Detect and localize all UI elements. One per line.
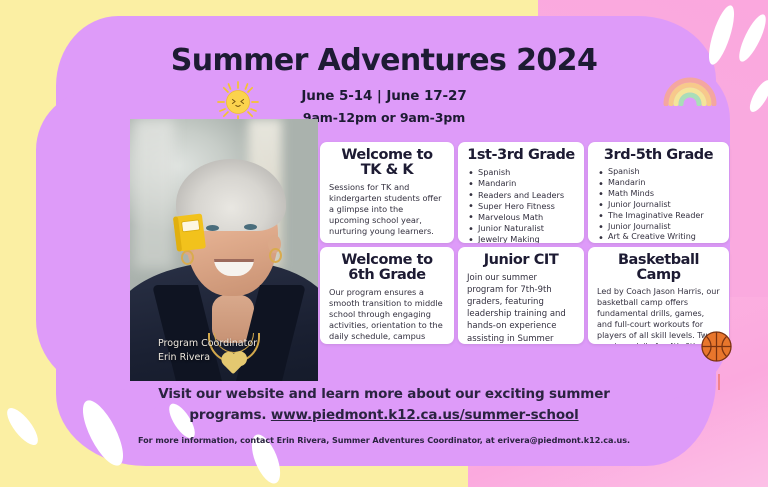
card-body: Sessions for TK and kindergarten student… xyxy=(329,182,445,237)
list-item: Spanish xyxy=(597,167,720,178)
card-title: Welcome to 6th Grade xyxy=(329,253,445,283)
page-title: Summer Adventures 2024 xyxy=(0,46,768,76)
earring-icon xyxy=(269,248,282,263)
notebook-icon xyxy=(171,211,210,255)
list-item: Jewelry Making xyxy=(467,234,575,243)
list-item: Junior Naturalist xyxy=(467,223,575,234)
list-item: Junior Journalist xyxy=(597,200,720,211)
list-item: The Imaginative Reader xyxy=(597,211,720,222)
footer-cta: Visit our website and learn more about o… xyxy=(0,384,768,426)
card-course-list: Spanish Mandarin Math Minds Junior Journ… xyxy=(597,167,720,243)
decorative-tick xyxy=(718,374,720,390)
card-1st-3rd-grade[interactable]: 1st-3rd Grade Spanish Mandarin Readers a… xyxy=(458,142,584,243)
poster-footer: Visit our website and learn more about o… xyxy=(0,384,768,445)
list-item: Readers and Leaders xyxy=(467,190,575,201)
coordinator-photo: Program Coordinator Erin Rivera xyxy=(130,119,318,381)
card-title: 1st-3rd Grade xyxy=(467,148,575,163)
card-welcome-6th-grade[interactable]: Welcome to 6th Grade Our program ensures… xyxy=(320,247,454,344)
photo-caption-name: Erin Rivera xyxy=(158,351,257,365)
card-title: Junior CIT xyxy=(467,253,575,268)
card-title: 3rd-5th Grade xyxy=(597,148,720,163)
card-junior-cit[interactable]: Junior CIT Join our summer program for 7… xyxy=(458,247,584,344)
list-item: Marvelous Math xyxy=(467,212,575,223)
sun-icon xyxy=(216,80,260,124)
list-item: Mandarin xyxy=(597,178,720,189)
card-body: Join our summer program for 7th-9th grad… xyxy=(467,272,575,344)
poster-header: Summer Adventures 2024 June 5-14 | June … xyxy=(0,46,768,125)
card-basketball-camp[interactable]: Basketball Camp Led by Coach Jason Harri… xyxy=(588,247,729,344)
rainbow-icon xyxy=(662,72,718,106)
card-body: Our program ensures a smooth transition … xyxy=(329,287,445,344)
website-link[interactable]: www.piedmont.k12.ca.us/summer-school xyxy=(271,407,579,423)
list-item: Mandarin xyxy=(467,178,575,189)
basketball-icon xyxy=(701,331,732,362)
photo-caption-role: Program Coordinator xyxy=(158,337,257,351)
card-title: Basketball Camp xyxy=(597,253,720,283)
photo-blur-left xyxy=(134,119,174,269)
list-item: Spanish xyxy=(467,167,575,178)
session-dates: June 5-14 | June 17-27 xyxy=(0,88,768,104)
photo-eye-right xyxy=(244,224,257,230)
card-course-list: Spanish Mandarin Readers and Leaders Sup… xyxy=(467,167,575,243)
photo-eye-left xyxy=(206,225,219,231)
list-item: Super Hero Fitness xyxy=(467,201,575,212)
card-3rd-5th-grade[interactable]: 3rd-5th Grade Spanish Mandarin Math Mind… xyxy=(588,142,729,243)
list-item: Math Minds xyxy=(597,189,720,200)
list-item: Art & Creative Writing xyxy=(597,232,720,243)
card-welcome-tk-k[interactable]: Welcome to TK & K Sessions for TK and ki… xyxy=(320,142,454,243)
list-item: Junior Journalist xyxy=(597,222,720,233)
footer-contact: For more information, contact Erin River… xyxy=(0,435,768,445)
session-times: 9am-12pm or 9am-3pm xyxy=(0,110,768,125)
photo-caption: Program Coordinator Erin Rivera xyxy=(158,337,257,365)
card-title: Welcome to TK & K xyxy=(329,148,445,178)
